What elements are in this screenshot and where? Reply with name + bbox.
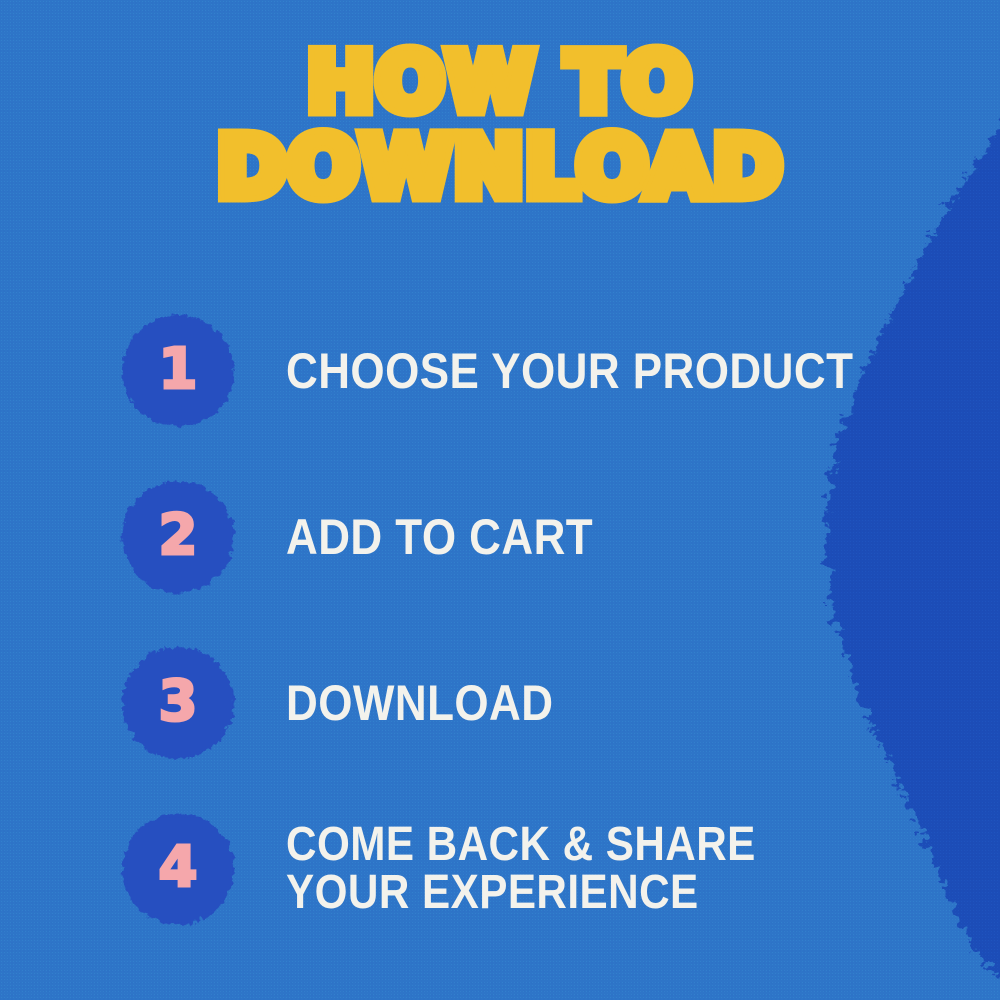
step-number-3: 3 [159, 674, 198, 730]
page-title-line-2: DOWNLOAD [0, 124, 1000, 210]
step-label-2: ADD TO CART [286, 512, 914, 562]
list-item: 1 CHOOSE YOUR PRODUCT [0, 288, 1000, 454]
step-badge-3: 3 [118, 643, 238, 763]
step-label-4: COME BACK & SHARE YOUR EXPERIENCE [286, 821, 914, 917]
step-number-4: 4 [159, 840, 198, 896]
step-number-1: 1 [159, 342, 198, 398]
step-badge-2: 2 [118, 477, 238, 597]
step-badge-4: 4 [118, 809, 238, 929]
list-item: 3 DOWNLOAD [0, 620, 1000, 786]
page-title: HOW TO DOWNLOAD [0, 42, 1000, 210]
step-label-1: CHOOSE YOUR PRODUCT [286, 346, 914, 396]
poster-canvas: HOW TO DOWNLOAD 1 CHOOSE YOUR PRODUCT [0, 0, 1000, 1000]
list-item: 2 ADD TO CART [0, 454, 1000, 620]
page-title-line-1: HOW TO [0, 42, 1000, 124]
steps-list: 1 CHOOSE YOUR PRODUCT 2 ADD TO CART [0, 288, 1000, 952]
step-badge-1: 1 [118, 311, 238, 431]
list-item: 4 COME BACK & SHARE YOUR EXPERIENCE [0, 786, 1000, 952]
step-label-3: DOWNLOAD [286, 678, 914, 728]
step-number-2: 2 [159, 508, 198, 564]
